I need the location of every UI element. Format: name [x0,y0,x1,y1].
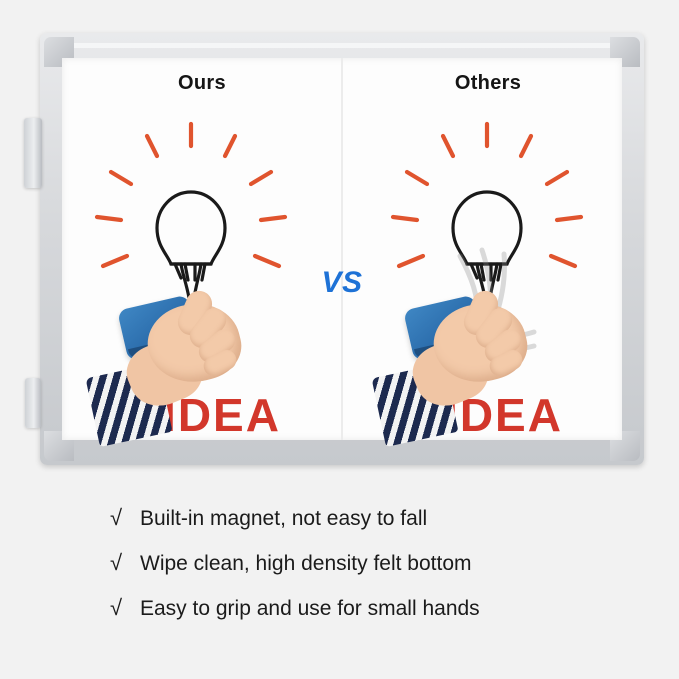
feature-text: Easy to grip and use for small hands [140,597,480,621]
vs-badge: VS [321,266,362,300]
comparison-panel-others: Others [342,58,622,440]
hand-with-eraser-others [372,280,522,440]
whiteboard: Ours [40,33,644,465]
wall-mount-clip-upper [24,118,42,188]
comparison-panel-ours: Ours [62,58,342,440]
feature-item: √ Wipe clean, high density felt bottom [110,550,580,576]
whiteboard-surface: Ours [62,58,622,440]
hand-with-eraser-ours [86,280,236,440]
feature-list: √ Built-in magnet, not easy to fall √ Wi… [110,505,580,640]
check-icon: √ [110,550,140,576]
panel-title-others: Others [342,72,628,95]
feature-item: √ Easy to grip and use for small hands [110,595,580,621]
feature-text: Wipe clean, high density felt bottom [140,552,472,576]
product-image: Ours [0,0,679,679]
panel-title-ours: Ours [62,72,368,95]
feature-text: Built-in magnet, not easy to fall [140,507,427,531]
feature-item: √ Built-in magnet, not easy to fall [110,505,580,531]
wall-mount-clip-lower [25,378,41,428]
frame-highlight [50,43,634,48]
check-icon: √ [110,505,140,531]
check-icon: √ [110,595,140,621]
